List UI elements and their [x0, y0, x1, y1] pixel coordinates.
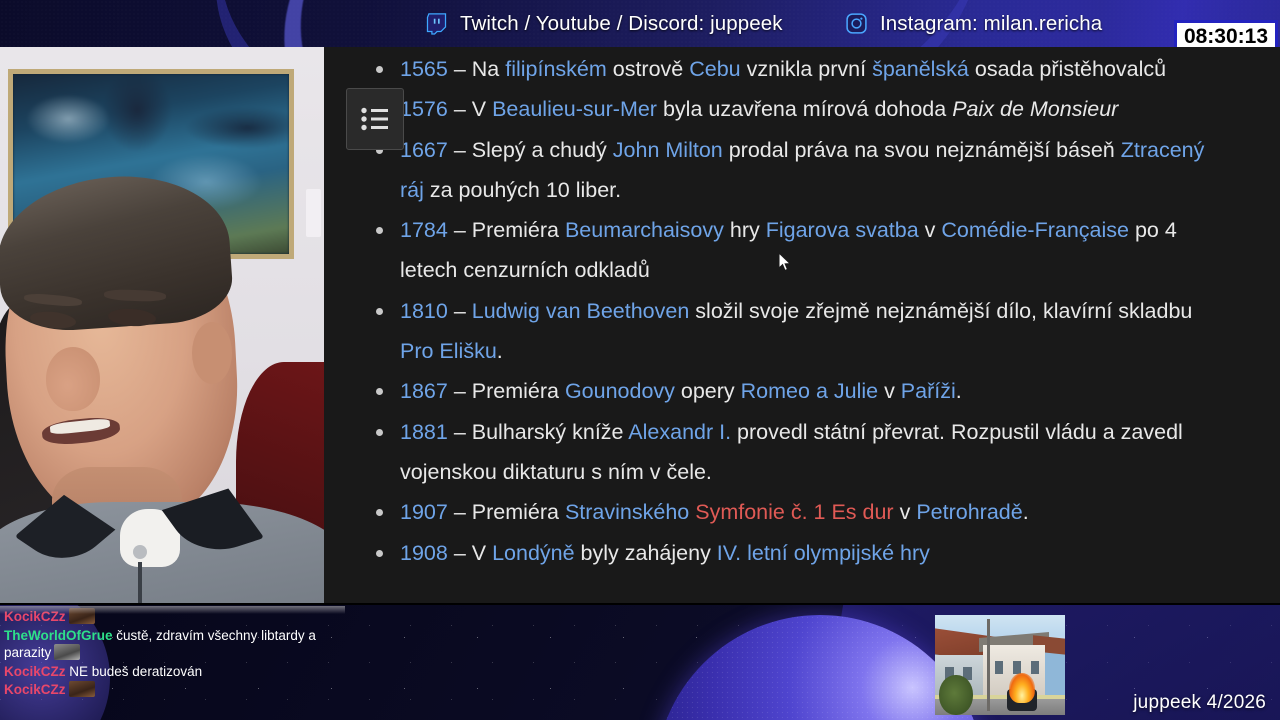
- list-bullet: [376, 429, 383, 436]
- list-bullet: [376, 509, 383, 516]
- list-glyph: [360, 106, 390, 132]
- wiki-link[interactable]: Figarova svatba: [766, 218, 919, 242]
- event-year-link[interactable]: 1667: [400, 138, 448, 162]
- event-text: Slepý a chudý: [472, 138, 613, 162]
- chat-message: KocikCZz: [4, 681, 339, 699]
- thumb-window: [1031, 661, 1039, 674]
- list-bullet: [376, 388, 383, 395]
- event-text: ostrově: [607, 57, 689, 81]
- list-bullet: [376, 66, 383, 73]
- event-year-link[interactable]: 1907: [400, 500, 448, 524]
- header-instagram-label: Instagram: milan.rericha: [880, 12, 1102, 36]
- event-list-item: 1667 – Slepý a chudý John Milton prodal …: [324, 130, 1280, 211]
- event-list-item: 1908 – V Londýně byly zahájeny IV. letní…: [324, 533, 1280, 573]
- wiki-link[interactable]: Alexandr I.: [628, 420, 731, 444]
- wiki-link[interactable]: Beaulieu-sur-Mer: [492, 97, 657, 121]
- event-year-link[interactable]: 1881: [400, 420, 448, 444]
- event-text: složil svoje zřejmě nejznámější dílo, kl…: [689, 299, 1192, 323]
- channel-watermark: juppeek 4/2026: [1133, 692, 1266, 714]
- wiki-link[interactable]: španělská: [872, 57, 969, 81]
- twitch-icon: [425, 12, 448, 35]
- event-year-link[interactable]: 1784: [400, 218, 448, 242]
- wiki-link[interactable]: IV. letní olympijské hry: [717, 541, 930, 565]
- event-list-item: 1576 – V Beaulieu-sur-Mer byla uzavřena …: [324, 89, 1280, 129]
- instagram-icon: [845, 12, 868, 35]
- wiki-link[interactable]: Gounodovy: [565, 379, 675, 403]
- thumb-window: [995, 661, 1003, 674]
- street-scene-thumbnail: [935, 615, 1065, 715]
- wiki-link[interactable]: Petrohradě: [916, 500, 1022, 524]
- wiki-link[interactable]: filipínském: [505, 57, 607, 81]
- event-text: Premiéra: [472, 379, 565, 403]
- list-bullet: [376, 308, 383, 315]
- event-text: Premiéra: [472, 500, 565, 524]
- list-bullet: [376, 550, 383, 557]
- event-text: v: [894, 500, 917, 524]
- streamer-nose: [46, 347, 100, 411]
- event-text: Na: [472, 57, 505, 81]
- thumb-window: [1013, 661, 1021, 674]
- chat-text: NE budeš deratizován: [66, 664, 203, 679]
- wiki-link[interactable]: Beumarchaisovy: [565, 218, 724, 242]
- wiki-link[interactable]: Cebu: [689, 57, 740, 81]
- event-text: V: [472, 97, 492, 121]
- mouse-cursor: [778, 252, 792, 272]
- event-year-link[interactable]: 1576: [400, 97, 448, 121]
- event-text: Premiéra: [472, 218, 565, 242]
- thumb-bush: [939, 675, 973, 715]
- event-text: byly zahájeny: [575, 541, 717, 565]
- event-text: v: [919, 218, 942, 242]
- event-list-item: 1881 – Bulharský kníže Alexandr I. prove…: [324, 412, 1280, 493]
- wiki-events-panel[interactable]: 1565 – Na filipínském ostrově Cebu vznik…: [324, 47, 1280, 603]
- bulleted-list-icon[interactable]: [346, 88, 404, 150]
- panel-divider: [0, 603, 1280, 605]
- wiki-link[interactable]: Stravinského: [565, 500, 689, 524]
- chat-username[interactable]: KocikCZz: [4, 682, 66, 697]
- header-twitch-label: Twitch / Youtube / Discord: juppeek: [460, 12, 783, 36]
- header-bar: Twitch / Youtube / Discord: juppeek Inst…: [0, 0, 1280, 47]
- wiki-link-italic[interactable]: Pro Elišku: [400, 339, 497, 363]
- event-year-link[interactable]: 1810: [400, 299, 448, 323]
- event-text: za pouhých 10 liber.: [424, 178, 621, 202]
- event-text: hry: [724, 218, 766, 242]
- chat-fade: [0, 606, 345, 614]
- chat-message: TheWorldOfGrue čustě, zdravím všechny li…: [4, 627, 339, 662]
- event-text: Bulharský kníže: [472, 420, 629, 444]
- header-twitch-group: Twitch / Youtube / Discord: juppeek: [425, 0, 783, 47]
- event-list-item: 1810 – Ludwig van Beethoven složil svoje…: [324, 291, 1280, 372]
- chat-username[interactable]: TheWorldOfGrue: [4, 628, 113, 643]
- event-text: vznikla první: [741, 57, 872, 81]
- thumb-pole: [987, 619, 990, 711]
- shirt-button-upper: [133, 545, 147, 559]
- event-text: V: [472, 541, 492, 565]
- streamer-ear: [192, 322, 232, 384]
- wiki-redlink[interactable]: Symfonie č. 1 Es dur: [695, 500, 893, 524]
- event-text: .: [956, 379, 962, 403]
- wiki-link[interactable]: John Milton: [613, 138, 723, 162]
- chat-emote: [54, 644, 80, 660]
- header-instagram-group: Instagram: milan.rericha: [845, 0, 1102, 47]
- wiki-link[interactable]: Comédie-Française: [941, 218, 1129, 242]
- wiki-link[interactable]: Londýně: [492, 541, 575, 565]
- wiki-link[interactable]: Ludwig van Beethoven: [472, 299, 690, 323]
- chat-message: KocikCZz NE budeš deratizován: [4, 663, 339, 681]
- stream-overlay-root: Twitch / Youtube / Discord: juppeek Inst…: [0, 0, 1280, 720]
- events-list: 1565 – Na filipínském ostrově Cebu vznik…: [324, 47, 1280, 573]
- event-year-link[interactable]: 1908: [400, 541, 448, 565]
- wiki-link[interactable]: Romeo a Julie: [741, 379, 878, 403]
- event-text: .: [1023, 500, 1029, 524]
- thumb-fire: [1009, 673, 1035, 703]
- clock-display: 08:30:13: [1174, 20, 1278, 47]
- event-text: opery: [675, 379, 741, 403]
- wiki-link[interactable]: Paříži: [901, 379, 956, 403]
- webcam-feed: [0, 47, 324, 603]
- list-bullet: [376, 227, 383, 234]
- event-text: osada přistěhovalců: [969, 57, 1166, 81]
- event-list-item: 1907 – Premiéra Stravinského Symfonie č.…: [324, 492, 1280, 532]
- event-italic-title: Paix de Monsieur: [952, 97, 1118, 121]
- shirt-placket: [138, 562, 142, 603]
- event-text: prodal práva na svou nejznámější báseň: [723, 138, 1121, 162]
- event-text: .: [497, 339, 503, 363]
- event-year-link[interactable]: 1867: [400, 379, 448, 403]
- event-text: byla uzavřena mírová dohoda: [657, 97, 952, 121]
- chat-emote: [69, 681, 95, 697]
- event-year-link[interactable]: 1565: [400, 57, 448, 81]
- chat-overlay[interactable]: KocikCZzTheWorldOfGrue čustě, zdravím vš…: [0, 606, 345, 720]
- chat-username[interactable]: KocikCZz: [4, 664, 66, 679]
- event-text: v: [878, 379, 901, 403]
- light-switch: [306, 189, 321, 237]
- event-list-item: 1867 – Premiéra Gounodovy opery Romeo a …: [324, 371, 1280, 411]
- event-list-item: 1565 – Na filipínském ostrově Cebu vznik…: [324, 49, 1280, 89]
- event-list-item: 1784 – Premiéra Beumarchaisovy hry Figar…: [324, 210, 1280, 291]
